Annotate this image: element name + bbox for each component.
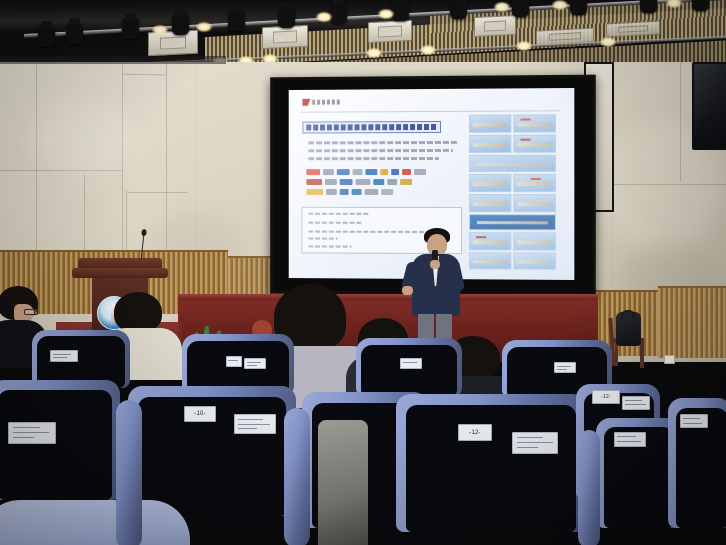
ceiling-track-spotlight xyxy=(512,0,529,17)
stage-edge xyxy=(178,294,598,300)
seat-row-label: -12- xyxy=(458,424,492,441)
ceiling-air-vent xyxy=(474,15,516,37)
ceiling-track-spotlight xyxy=(278,7,295,28)
ceiling-downlight xyxy=(196,22,212,32)
infrastructure-photo-grid xyxy=(469,114,556,267)
ceiling-track-spotlight xyxy=(66,23,83,44)
presenter-hand xyxy=(402,286,413,295)
ceiling-track-spotlight xyxy=(38,26,55,47)
ceiling-track-spotlight xyxy=(330,3,347,24)
ceiling-downlight xyxy=(600,37,616,47)
ceiling-downlight xyxy=(552,0,568,10)
partner-logo-grid xyxy=(306,169,426,175)
slide-title-banner xyxy=(302,121,441,134)
seat-row-label: -10- xyxy=(184,406,216,422)
wall-mounted-monitor[interactable] xyxy=(692,62,726,150)
backpack-strap xyxy=(621,310,635,320)
ceiling-track-spotlight xyxy=(172,14,189,35)
audience-member xyxy=(318,420,368,545)
ceiling-track-spotlight xyxy=(640,0,657,13)
presenter-hand xyxy=(430,260,440,269)
seat-armrest[interactable] xyxy=(116,400,142,545)
ceiling-track-spotlight xyxy=(570,0,587,15)
ceiling-air-vent xyxy=(262,25,308,49)
seat-armrest[interactable] xyxy=(284,408,310,545)
ceiling-downlight xyxy=(152,25,168,35)
seat-row-label: -12- xyxy=(592,390,620,404)
ceiling-downlight xyxy=(366,48,382,58)
ceiling-downlight xyxy=(378,9,394,19)
wall-power-outlet[interactable] xyxy=(664,355,675,364)
auditorium-seat[interactable] xyxy=(356,338,462,396)
ceiling-downlight xyxy=(420,45,436,55)
ceiling-track-spotlight xyxy=(692,0,709,11)
wood-wainscot xyxy=(658,286,726,358)
auditorium-scene: -10- -12- -12- xyxy=(0,0,726,545)
auditorium-seat[interactable] xyxy=(668,398,726,528)
ceiling-downlight xyxy=(316,12,332,22)
ceiling-track-spotlight xyxy=(228,10,245,31)
seat-cushion[interactable] xyxy=(0,500,190,545)
ceiling-air-vent xyxy=(606,21,660,38)
auditorium-seat[interactable]: -12- xyxy=(396,394,586,532)
ceiling-downlight xyxy=(494,2,510,12)
company-logo-icon xyxy=(302,99,343,106)
auditorium-seat[interactable]: -10- xyxy=(128,386,296,516)
ceiling-air-vent xyxy=(368,20,412,43)
ceiling-downlight xyxy=(516,41,532,51)
auditorium-seat[interactable] xyxy=(182,334,294,394)
wooden-chair xyxy=(640,340,644,368)
wall-top-shadow xyxy=(0,56,226,64)
eyeglasses-icon xyxy=(24,309,38,315)
ceiling-track-spotlight xyxy=(392,0,409,21)
ceiling-track-spotlight xyxy=(450,0,467,19)
ceiling-track-spotlight xyxy=(122,18,139,39)
auditorium-seat[interactable] xyxy=(0,380,120,500)
seat-armrest[interactable] xyxy=(578,430,600,545)
